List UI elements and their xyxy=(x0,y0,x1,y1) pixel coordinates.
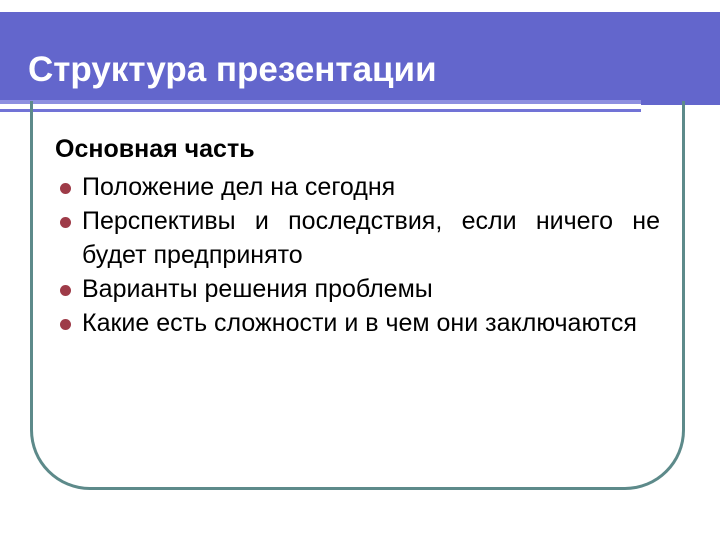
title-rule-bottom-shadow xyxy=(0,109,641,112)
bullet-marker-icon xyxy=(60,319,71,330)
list-item-label: Перспективы и последствия, если ничего н… xyxy=(82,204,660,272)
slide-title: Структура презентации xyxy=(28,48,437,92)
list-item: Какие есть сложности и в чем они заключа… xyxy=(55,306,660,340)
list-item-label: Какие есть сложности и в чем они заключа… xyxy=(82,306,660,340)
bullet-marker-icon xyxy=(60,183,71,194)
bullet-marker-icon xyxy=(60,217,71,228)
list-item: Перспективы и последствия, если ничего н… xyxy=(55,204,660,272)
bullet-list: Положение дел на сегодня Перспективы и п… xyxy=(55,170,660,340)
bullet-marker-icon xyxy=(60,285,71,296)
presentation-slide: Структура презентации Основная часть Пол… xyxy=(0,0,720,540)
body-heading: Основная часть xyxy=(55,132,660,166)
title-banner: Структура презентации xyxy=(0,12,720,105)
list-item-label: Варианты решения проблемы xyxy=(82,272,660,306)
slide-body: Основная часть Положение дел на сегодня … xyxy=(55,132,660,340)
list-item: Положение дел на сегодня xyxy=(55,170,660,204)
list-item-label: Положение дел на сегодня xyxy=(82,170,660,204)
list-item: Варианты решения проблемы xyxy=(55,272,660,306)
